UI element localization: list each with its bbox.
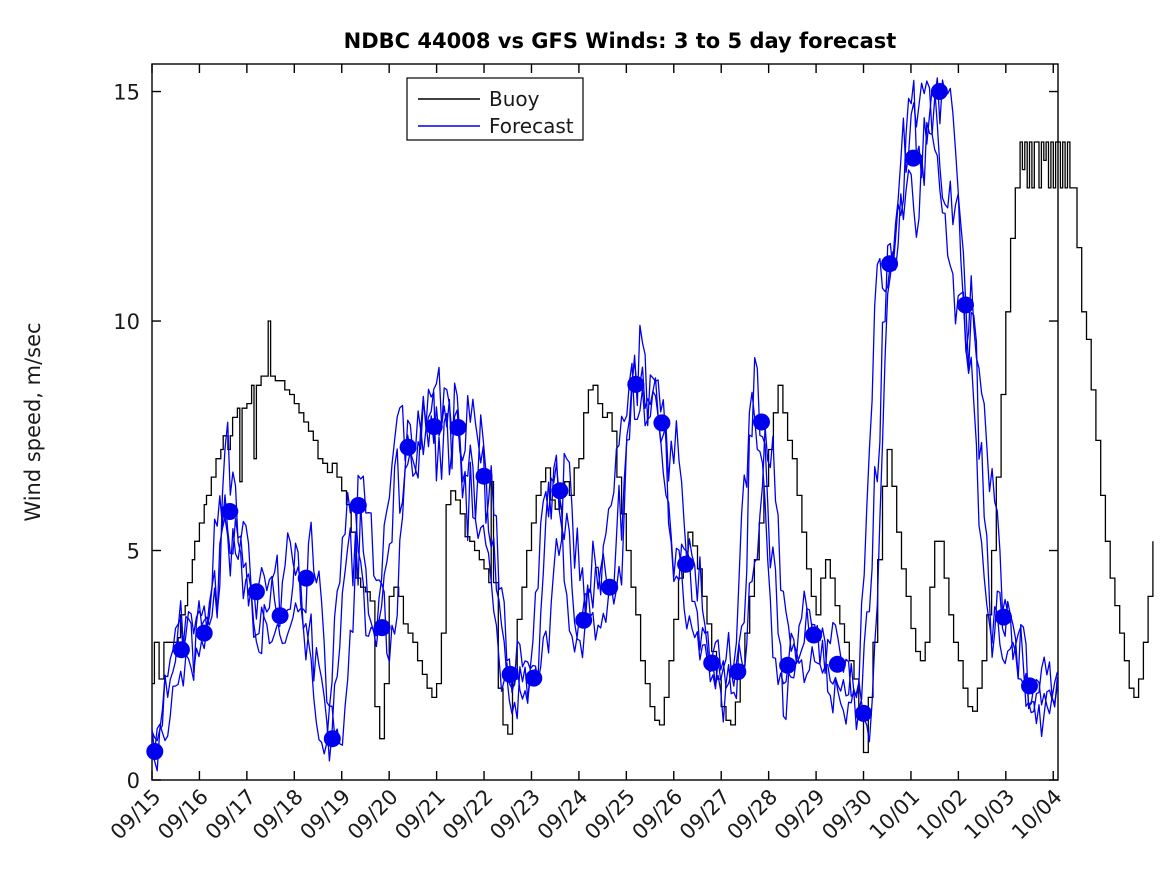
forecast-marker-dot: [173, 641, 190, 658]
forecast-marker-dot: [502, 666, 519, 683]
forecast-marker-dot: [196, 625, 213, 642]
forecast-marker-dot: [601, 579, 618, 596]
chart-figure: NDBC 44008 vs GFS Winds: 3 to 5 day fore…: [0, 0, 1167, 875]
forecast-marker-dot: [551, 482, 568, 499]
y-tick-label: 15: [113, 81, 140, 105]
forecast-marker-dot: [881, 255, 898, 272]
forecast-marker-dot: [779, 657, 796, 674]
chart-legend[interactable]: Buoy Forecast: [407, 78, 583, 140]
forecast-marker-dot: [805, 627, 822, 644]
forecast-marker-dot: [905, 150, 922, 167]
forecast-marker-dot: [995, 609, 1012, 626]
forecast-marker-dot: [400, 439, 417, 456]
forecast-marker-dot: [221, 503, 238, 520]
forecast-marker-dot: [272, 607, 289, 624]
legend-label-forecast: Forecast: [489, 114, 574, 138]
forecast-marker-dot: [729, 663, 746, 680]
forecast-marker-dot: [146, 743, 163, 760]
forecast-marker-dot: [525, 670, 542, 687]
y-axis-label: Wind speed, m/sec: [21, 322, 45, 521]
forecast-marker-dot: [753, 414, 770, 431]
forecast-marker-dot: [324, 730, 341, 747]
y-tick-label: 5: [127, 540, 140, 564]
y-tick-label: 0: [127, 769, 140, 793]
y-axis-label-text: Wind speed, m/sec: [21, 322, 45, 521]
forecast-marker-dot: [426, 418, 443, 435]
forecast-marker-dot: [653, 414, 670, 431]
chart-title: NDBC 44008 vs GFS Winds: 3 to 5 day fore…: [344, 29, 897, 53]
forecast-marker-dot: [703, 655, 720, 672]
forecast-marker-dot: [575, 612, 592, 629]
forecast-marker-dot: [855, 705, 872, 722]
forecast-marker-dot: [298, 570, 315, 587]
forecast-marker-dot: [957, 297, 974, 314]
forecast-marker-dot: [248, 583, 265, 600]
wind-speed-chart: NDBC 44008 vs GFS Winds: 3 to 5 day fore…: [0, 0, 1167, 875]
forecast-marker-dot: [931, 83, 948, 100]
forecast-marker-dot: [374, 619, 391, 636]
forecast-marker-dot: [450, 419, 467, 436]
forecast-marker-dot: [1021, 677, 1038, 694]
y-tick-label: 10: [113, 310, 140, 334]
legend-label-buoy: Buoy: [489, 87, 540, 111]
forecast-marker-dot: [350, 497, 367, 514]
forecast-marker-dot: [829, 656, 846, 673]
forecast-marker-dot: [627, 376, 644, 393]
forecast-marker-dot: [476, 468, 493, 485]
forecast-marker-dot: [677, 556, 694, 573]
